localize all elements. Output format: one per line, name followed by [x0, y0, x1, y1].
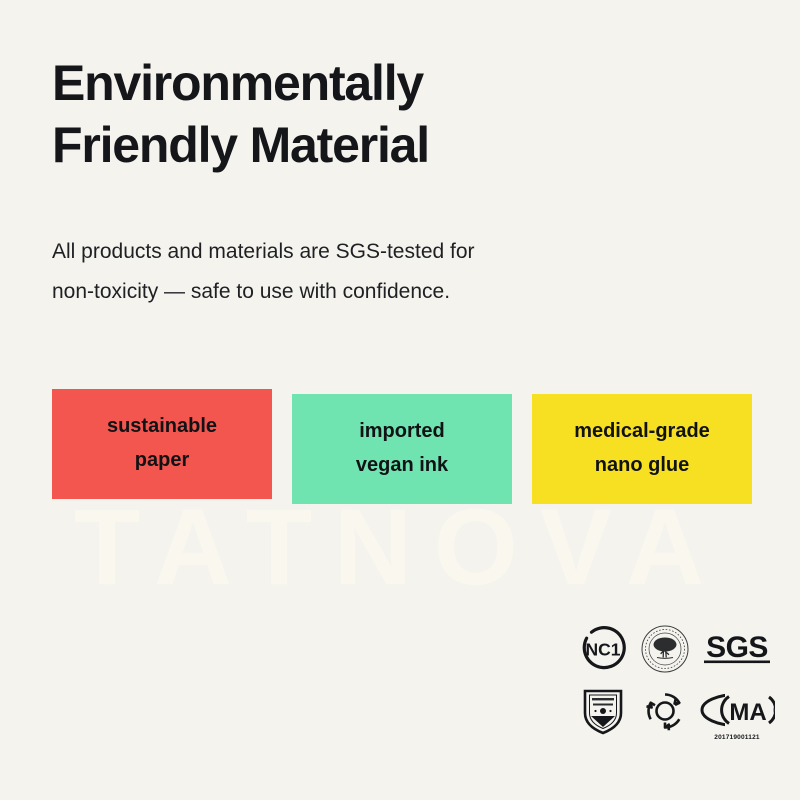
main-content: Environmentally Friendly Material All pr…: [0, 0, 800, 312]
sgs-certification-icon: SGS: [696, 620, 778, 678]
tag-sustainable-paper[interactable]: sustainable paper: [52, 389, 272, 499]
material-tag-list: sustainable paper imported vegan ink med…: [52, 389, 752, 504]
tag-label-line-2: nano glue: [542, 448, 742, 482]
svg-text:MA: MA: [729, 699, 766, 726]
tag-imported-vegan-ink[interactable]: imported vegan ink: [292, 394, 512, 504]
tag-label-line-2: paper: [62, 443, 262, 477]
page-subtitle-line-1: All products and materials are SGS-teste…: [52, 232, 632, 272]
tag-label-line-1: sustainable: [62, 409, 262, 443]
page-title-line-2: Friendly Material: [52, 114, 572, 176]
nc1-certification-icon: NC1: [572, 620, 634, 678]
page-subtitle-line-2: non-toxicity — safe to use with confiden…: [52, 272, 632, 312]
certification-row-top: NC1 SGS: [572, 618, 778, 680]
tag-medical-grade-nano-glue[interactable]: medical-grade nano glue: [532, 394, 752, 504]
tag-label-line-2: vegan ink: [302, 448, 502, 482]
certification-badge-group: NC1 SGS: [572, 618, 778, 742]
tag-label-line-1: medical-grade: [542, 414, 742, 448]
certification-row-bottom: MA 201719001121: [572, 680, 778, 742]
cma-certification-icon: MA 201719001121: [696, 682, 778, 740]
page-subtitle: All products and materials are SGS-teste…: [52, 176, 632, 312]
page-title: Environmentally Friendly Material: [52, 0, 572, 176]
svg-text:SGS: SGS: [706, 631, 768, 664]
brand-watermark: TATNOVA: [0, 492, 800, 602]
shield-certification-icon: [572, 682, 634, 740]
cma-certification-number: 201719001121: [696, 734, 778, 741]
tag-label-line-1: imported: [302, 414, 502, 448]
svg-text:NC1: NC1: [585, 640, 620, 660]
recycling-certification-icon: [634, 682, 696, 740]
tree-seal-certification-icon: [634, 620, 696, 678]
page-title-line-1: Environmentally: [52, 52, 572, 114]
